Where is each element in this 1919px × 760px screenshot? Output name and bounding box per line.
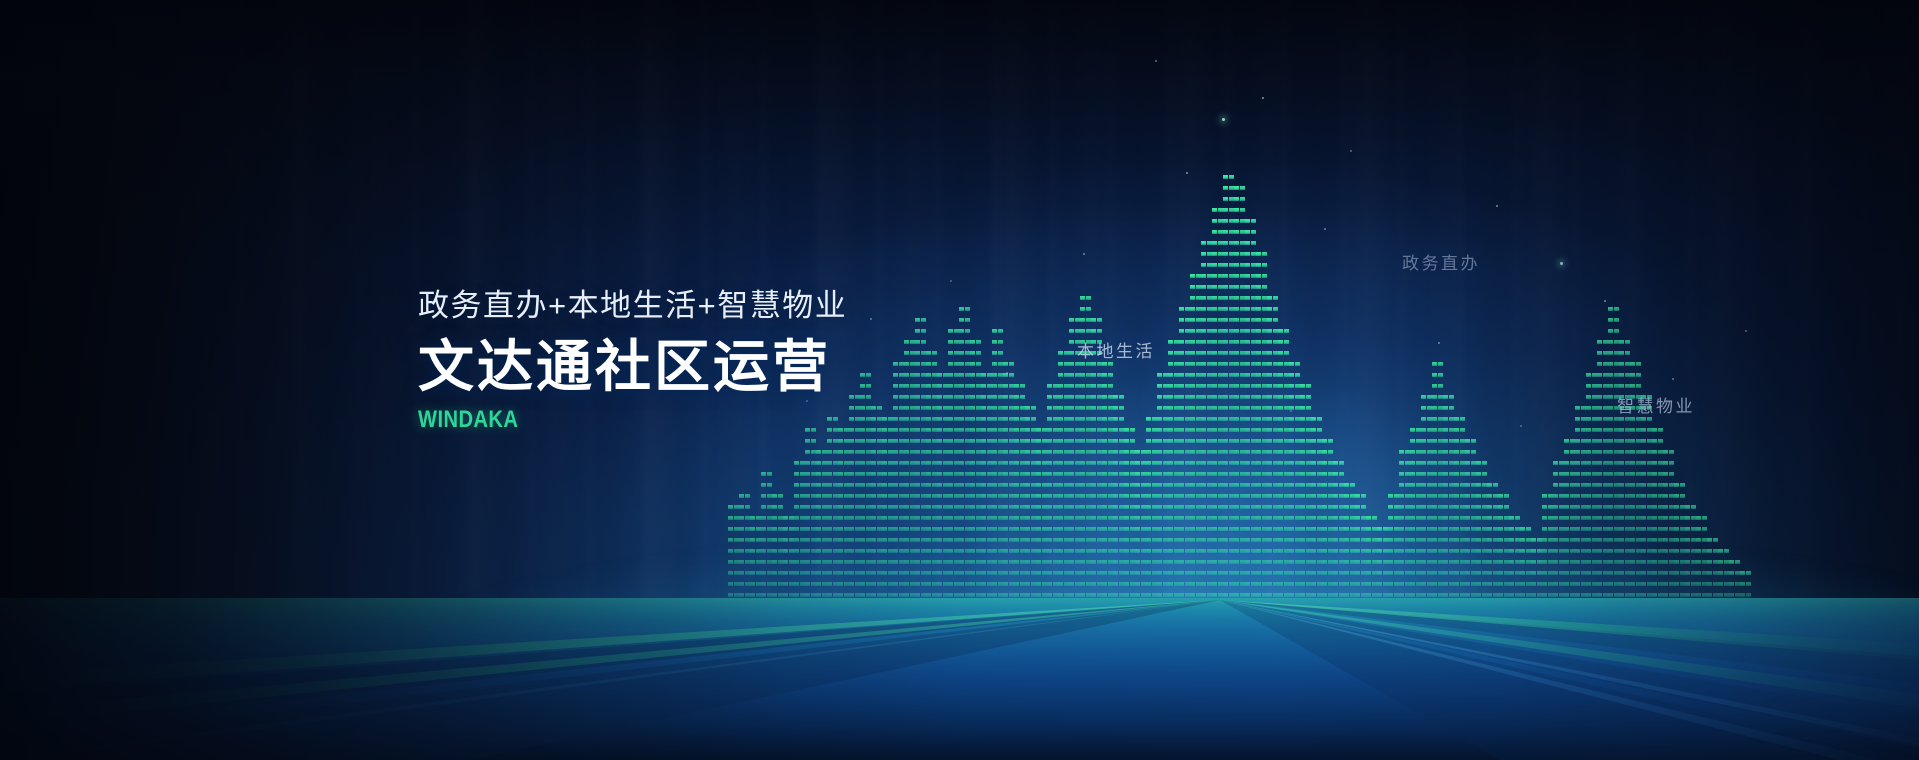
perspective-floor — [0, 598, 1919, 760]
banner-title: 文达通社区运营 — [418, 337, 847, 396]
brand-wordmark: WINDAKA — [418, 408, 779, 432]
headline-block: 政务直办+本地生活+智慧物业 文达通社区运营 WINDAKA — [418, 290, 847, 432]
cluster-label-bendi: 本地生活 — [1077, 343, 1155, 360]
cluster-label-zhengwu: 政务直办 — [1402, 255, 1480, 272]
floor-right-vignette — [0, 598, 1919, 760]
cluster-label-zhihui: 智慧物业 — [1617, 398, 1695, 415]
hero-banner: 政务直办 本地生活 智慧物业 政务直办+本地生活+智慧物业 文达通社区运营 WI… — [0, 0, 1919, 760]
banner-subtitle: 政务直办+本地生活+智慧物业 — [418, 290, 847, 321]
